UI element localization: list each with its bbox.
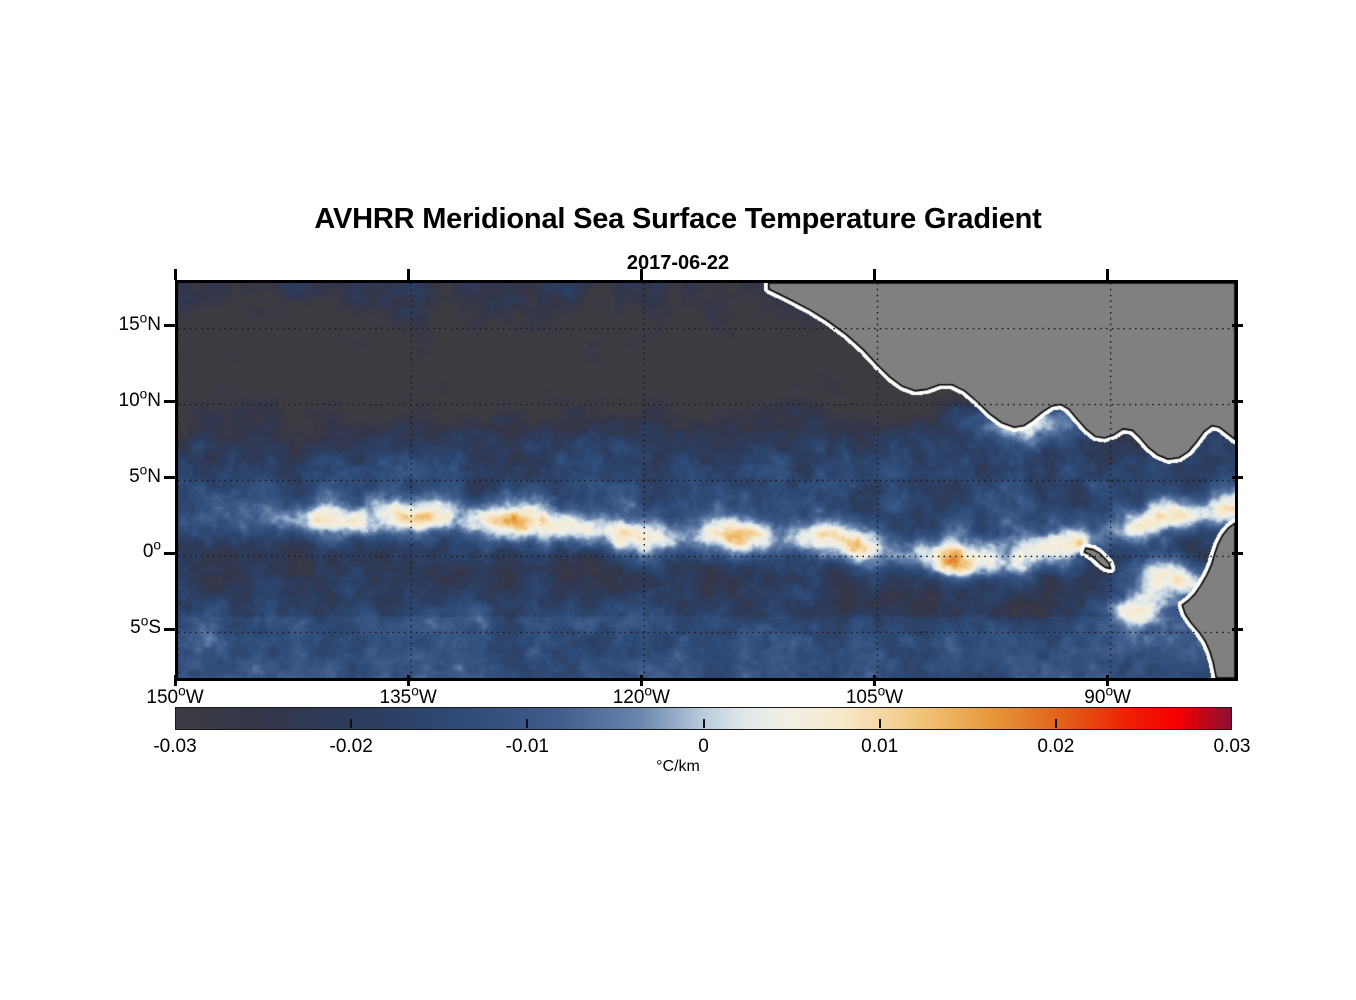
x-axis-label: 150oW <box>95 687 255 709</box>
colorbar-tick-label: -0.02 <box>330 736 373 758</box>
colorbar-tick-label: 0.02 <box>1037 736 1074 758</box>
colorbar-tick-label: 0.03 <box>1214 736 1251 758</box>
page-title: AVHRR Meridional Sea Surface Temperature… <box>0 203 1356 236</box>
degree-superscript: o <box>140 386 148 401</box>
y-axis-tick-left <box>164 476 175 479</box>
y-axis-tick-left <box>164 628 175 631</box>
figure-canvas: AVHRR Meridional Sea Surface Temperature… <box>0 0 1356 1000</box>
y-axis-tick-left <box>164 552 175 555</box>
degree-superscript: o <box>878 684 886 699</box>
x-axis-tick-top <box>174 269 177 280</box>
colorbar-tick <box>703 719 705 728</box>
sst-gradient-heatmap <box>178 283 1235 678</box>
y-axis-tick-left <box>164 324 175 327</box>
x-axis-label: 120oW <box>561 687 721 709</box>
degree-superscript: o <box>178 684 186 699</box>
y-axis-tick-right <box>1232 628 1243 631</box>
colorbar-tick <box>350 719 352 728</box>
degree-superscript: o <box>141 614 149 629</box>
x-axis-label: 90oW <box>1028 687 1188 709</box>
x-axis-tick-top <box>1106 269 1109 280</box>
degree-superscript: o <box>1105 684 1113 699</box>
degree-superscript: o <box>411 684 419 699</box>
x-axis-tick-top <box>407 269 410 280</box>
colorbar-units-label: °C/km <box>0 758 1356 776</box>
x-axis-label: 135oW <box>328 687 488 709</box>
x-axis-tick-bottom <box>407 675 410 686</box>
y-axis-tick-right <box>1232 400 1243 403</box>
colorbar-tick <box>879 719 881 728</box>
y-axis-label: 5oS <box>30 617 161 639</box>
y-axis-label: 0o <box>30 541 161 563</box>
y-axis-label: 5oN <box>30 466 161 488</box>
degree-superscript: o <box>153 538 161 553</box>
y-axis-label: 15oN <box>30 314 161 336</box>
colorbar-tick <box>1055 719 1057 728</box>
y-axis-tick-right <box>1232 552 1243 555</box>
colorbar-tick <box>526 719 528 728</box>
colorbar-tick-label: -0.03 <box>153 736 196 758</box>
x-axis-label: 105oW <box>794 687 954 709</box>
figure-subtitle-date: 2017-06-22 <box>0 252 1356 275</box>
degree-superscript: o <box>140 310 148 325</box>
x-axis-tick-bottom <box>873 675 876 686</box>
x-axis-tick-top <box>640 269 643 280</box>
degree-superscript: o <box>140 462 148 477</box>
colorbar-tick-label: 0.01 <box>861 736 898 758</box>
colorbar-tick-label: 0 <box>698 736 709 758</box>
y-axis-label: 10oN <box>30 390 161 412</box>
colorbar-tick-label: -0.01 <box>506 736 549 758</box>
x-axis-tick-bottom <box>174 675 177 686</box>
x-axis-tick-bottom <box>640 675 643 686</box>
y-axis-tick-right <box>1232 476 1243 479</box>
x-axis-tick-top <box>873 269 876 280</box>
y-axis-tick-right <box>1232 324 1243 327</box>
degree-superscript: o <box>644 684 652 699</box>
y-axis-tick-left <box>164 400 175 403</box>
map-plot-area <box>175 280 1238 681</box>
